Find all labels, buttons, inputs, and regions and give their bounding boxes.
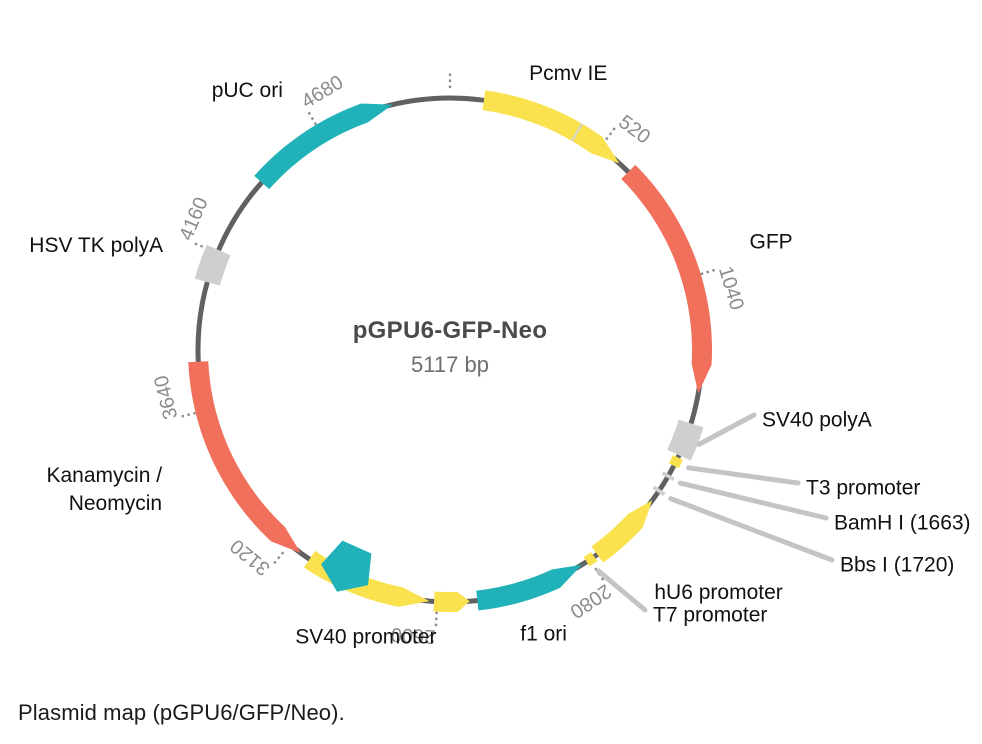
plasmid-map-figure: 5201040208026003120364041604680 Pcmv IEG… xyxy=(0,0,982,744)
feature-label: SV40 promoter xyxy=(295,626,436,649)
feature-box[interactable] xyxy=(667,420,703,461)
feature-arrow[interactable] xyxy=(591,500,652,562)
feature-callout-label: T3 promoter xyxy=(806,477,920,500)
tick-label: 3640 xyxy=(150,373,182,421)
plasmid-circular-map: 5201040208026003120364041604680 Pcmv IEG… xyxy=(0,0,982,744)
tick-label: 4160 xyxy=(175,194,212,244)
tick-mark xyxy=(606,127,616,140)
figure-caption: Plasmid map (pGPU6/GFP/Neo). xyxy=(18,700,345,726)
tick-label: 1040 xyxy=(714,264,748,313)
feature-box[interactable] xyxy=(195,245,231,286)
callout-leader-line xyxy=(688,468,798,483)
tick-label: 2080 xyxy=(566,579,615,622)
feature-arrow[interactable] xyxy=(188,361,300,553)
feature-arrow[interactable] xyxy=(483,90,620,163)
tick-label: 4680 xyxy=(298,71,347,113)
feature-label-line2: Neomycin xyxy=(69,492,162,515)
feature-label: f1 ori xyxy=(520,623,567,646)
center-text-group: pGPU6-GFP-Neo 5117 bp xyxy=(353,317,548,377)
tick-mark xyxy=(273,552,283,564)
tick-mark xyxy=(180,413,196,417)
feature-callout-label: T7 promoter xyxy=(653,604,767,627)
feature-label: Kanamycin / xyxy=(47,464,163,487)
feature-arrow[interactable] xyxy=(476,565,582,611)
feature-callout-label: SV40 polyA xyxy=(762,409,872,432)
feature-arrow[interactable] xyxy=(621,165,712,394)
feature-callout-label: Bbs I (1720) xyxy=(840,554,954,577)
tick-mark xyxy=(308,111,316,125)
feature-arrow[interactable] xyxy=(254,104,392,190)
tick-mark xyxy=(701,269,716,274)
feature-label: HSV TK polyA xyxy=(29,234,163,257)
plasmid-name: pGPU6-GFP-Neo xyxy=(353,317,548,344)
callout-leader-line xyxy=(671,499,832,560)
tick-label: 520 xyxy=(614,111,654,149)
feature-callout-label: BamH I (1663) xyxy=(834,512,971,535)
plasmid-length: 5117 bp xyxy=(411,352,489,377)
feature-arrow[interactable] xyxy=(433,592,469,612)
feature-label: hU6 promoter xyxy=(654,581,782,604)
tick-label: 3120 xyxy=(226,534,274,579)
inner-feature-marker[interactable] xyxy=(321,541,371,592)
feature-label: pUC ori xyxy=(212,79,283,102)
callout-leader-line xyxy=(699,415,754,444)
feature-label: Pcmv IE xyxy=(529,62,607,85)
feature-label: GFP xyxy=(749,231,792,254)
